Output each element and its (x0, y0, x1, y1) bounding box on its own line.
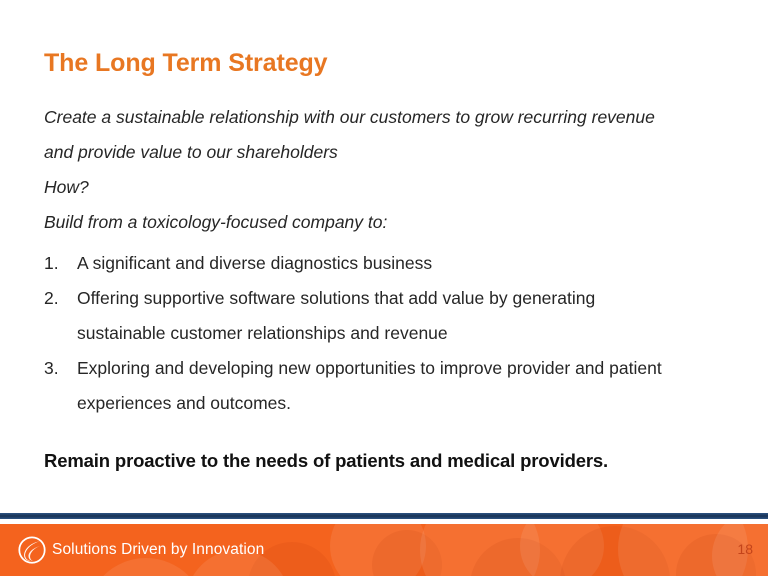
list-item-number: 1. (44, 246, 66, 281)
intro-line-3: How? (44, 170, 724, 205)
numbered-list: 1. A significant and diverse diagnostics… (44, 246, 724, 421)
slide-body: Create a sustainable relationship with o… (44, 100, 724, 421)
list-item-number: 2. (44, 281, 66, 316)
intro-line-1: Create a sustainable relationship with o… (44, 100, 724, 135)
intro-line-2: and provide value to our shareholders (44, 135, 724, 170)
list-item-label: Offering supportive software solutions t… (77, 281, 687, 351)
page-title: The Long Term Strategy (44, 49, 327, 78)
footer-tagline: Solutions Driven by Innovation (52, 541, 264, 559)
list-item: 1. A significant and diverse diagnostics… (44, 246, 724, 281)
list-item-label: Exploring and developing new opportuniti… (77, 351, 687, 421)
list-item: 2. Offering supportive software solution… (44, 281, 724, 351)
swoosh-circle-logo-icon (18, 536, 46, 564)
page-number: 18 (737, 541, 753, 557)
list-item-number: 3. (44, 351, 66, 386)
intro-line-4: Build from a toxicology-focused company … (44, 205, 724, 240)
list-item: 3. Exploring and developing new opportun… (44, 351, 724, 421)
slide-canvas: The Long Term Strategy Create a sustaina… (0, 0, 768, 576)
list-item-label: A significant and diverse diagnostics bu… (77, 246, 687, 281)
closing-statement: Remain proactive to the needs of patient… (44, 450, 608, 472)
